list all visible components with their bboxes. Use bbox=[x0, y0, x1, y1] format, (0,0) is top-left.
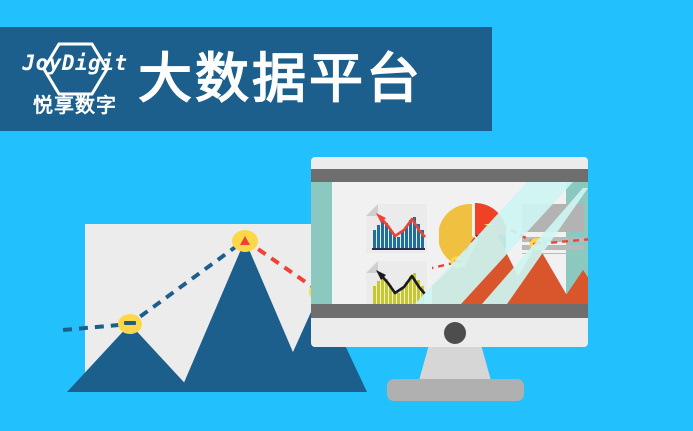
trend-node-1 bbox=[118, 314, 142, 334]
brand-logo[interactable]: JoyDigit 悦享数字 bbox=[16, 39, 134, 123]
monitor-screen bbox=[311, 182, 588, 304]
orange-mountain-chart[interactable] bbox=[432, 224, 588, 304]
monitor-top-bezel bbox=[311, 169, 588, 182]
trend-node-3 bbox=[530, 238, 545, 250]
banner-illustration-canvas: JoyDigit 悦享数字 大数据平台 bbox=[0, 0, 693, 431]
left-chart-panel bbox=[85, 224, 340, 392]
monitor-power-button[interactable] bbox=[444, 322, 466, 344]
trend-node-2 bbox=[232, 230, 258, 252]
mountain-shape-1 bbox=[67, 324, 193, 392]
logo-chinese-text: 悦享数字 bbox=[16, 96, 134, 116]
mountain-shape-4 bbox=[560, 270, 588, 304]
header-banner: JoyDigit 悦享数字 大数据平台 bbox=[0, 27, 492, 131]
monitor-illustration bbox=[311, 157, 588, 395]
yellow-bar-chart-card[interactable] bbox=[366, 261, 427, 304]
screen-side-panel-left bbox=[311, 182, 332, 304]
card-folded-corner bbox=[366, 261, 378, 273]
card-folded-corner bbox=[366, 204, 378, 216]
monitor-stand-base bbox=[387, 379, 524, 401]
blue-bar-chart-card[interactable] bbox=[366, 204, 427, 253]
monitor-bottom-bezel bbox=[311, 304, 588, 318]
logo-latin-text: JoyDigit bbox=[16, 53, 134, 74]
axis-line bbox=[372, 248, 425, 250]
trend-node-1 bbox=[451, 256, 466, 268]
dashboard-surface bbox=[332, 182, 566, 304]
trend-node-2 bbox=[481, 224, 497, 226]
blue-mountain-chart bbox=[85, 224, 340, 392]
page-title: 大数据平台 bbox=[138, 45, 423, 113]
